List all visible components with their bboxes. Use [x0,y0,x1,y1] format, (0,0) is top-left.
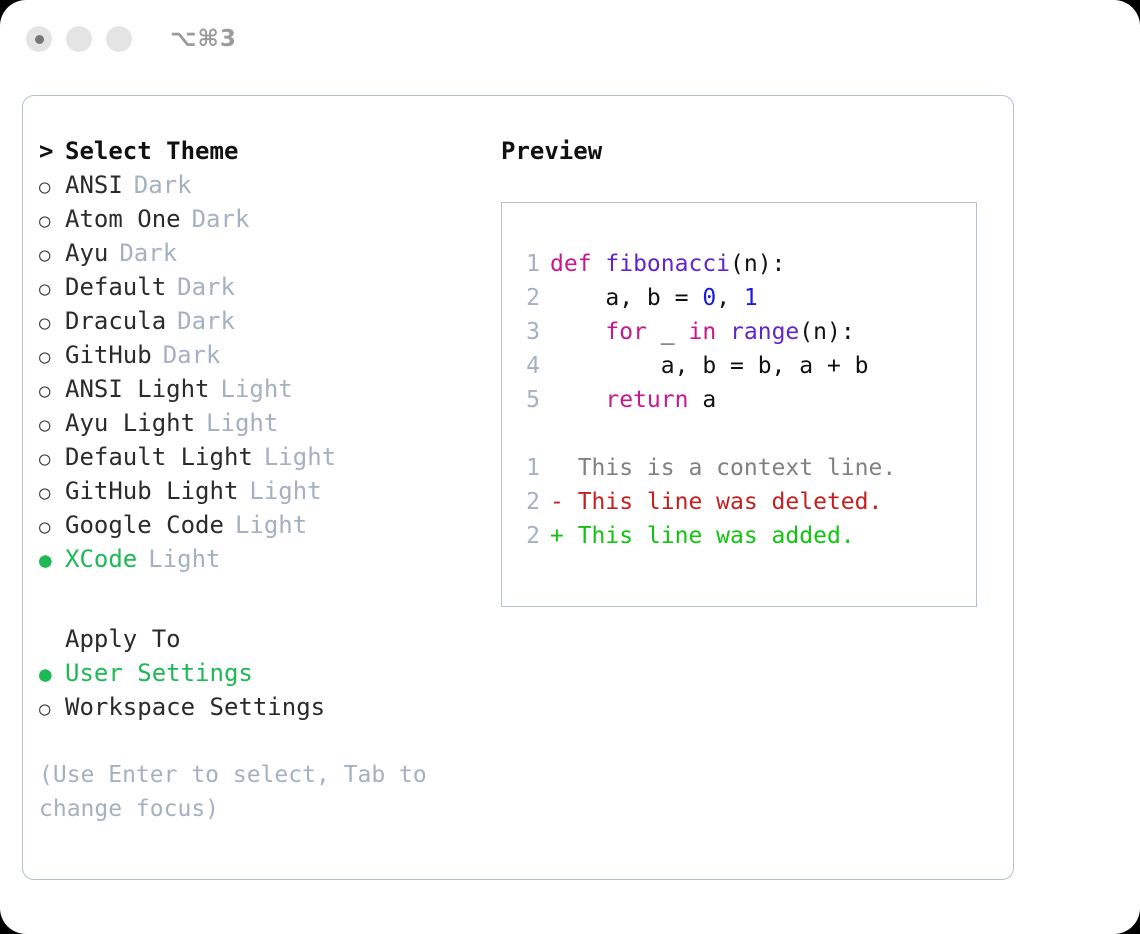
theme-option-google-code[interactable]: ○Google CodeLight [39,508,489,542]
select-theme-title: Select Theme [65,134,238,168]
preview-panel: Preview 1def fibonacci(n):2 a, b = 0, 13… [501,134,991,607]
theme-option-xcode[interactable]: ●XCodeLight [39,542,489,576]
apply-to-option-label: User Settings [65,656,253,690]
theme-variant-badge: Dark [192,202,250,236]
code-line: 5 return a [518,383,976,417]
theme-option-dracula[interactable]: ○DraculaDark [39,304,489,338]
radio-unselected-icon: ○ [39,272,65,306]
line-number: 1 [518,247,540,281]
theme-selector-dialog: > Select Theme ○ANSIDark○Atom OneDark○Ay… [22,95,1014,880]
theme-option-label: Ayu [65,236,108,270]
theme-option-label: Default [65,270,166,304]
code-diff-separator [518,417,976,451]
radio-unselected-icon: ○ [39,340,65,374]
theme-option-label: Google Code [65,508,224,542]
code-token-fn: range [730,319,799,345]
theme-variant-badge: Light [221,372,293,406]
window-dot-3-icon[interactable] [106,26,132,52]
radio-unselected-icon: ○ [39,510,65,544]
code-token-kw: for [605,319,647,345]
prompt-caret-icon: > [39,134,65,168]
radio-unselected-icon: ○ [39,692,65,726]
radio-unselected-icon: ○ [39,408,65,442]
theme-option-label: Ayu Light [65,406,195,440]
theme-option-label: Atom One [65,202,181,236]
apply-to-option-label: Workspace Settings [65,690,325,724]
theme-option-label: ANSI [65,168,123,202]
code-token-kw: in [688,319,716,345]
code-token-plain: (n): [799,319,854,345]
theme-option-ansi[interactable]: ○ANSIDark [39,168,489,202]
line-number: 2 [518,519,540,553]
code-line: 2 a, b = 0, 1 [518,281,976,315]
window-dot-active-icon[interactable] [26,26,52,52]
radio-unselected-icon: ○ [39,204,65,238]
diff-line-ctx: 1 This is a context line. [518,451,976,485]
diff-line-text: + This line was added. [550,523,855,549]
diff-line-text: This is a context line. [550,455,896,481]
radio-unselected-icon: ○ [39,170,65,204]
theme-variant-badge: Dark [163,338,221,372]
code-token-plain: a [688,387,716,413]
theme-option-label: XCode [65,542,137,576]
theme-option-github-light[interactable]: ○GitHub LightLight [39,474,489,508]
line-number: 2 [518,281,540,315]
preview-code-box: 1def fibonacci(n):2 a, b = 0, 13 for _ i… [501,202,977,607]
code-token-plain: (n): [730,251,785,277]
apply-to-option-workspace-settings[interactable]: ○Workspace Settings [39,690,489,724]
theme-variant-badge: Dark [177,304,235,338]
code-token-plain: , [716,285,744,311]
code-line: 3 for _ in range(n): [518,315,976,349]
apply-to-option-user-settings[interactable]: ●User Settings [39,656,489,690]
theme-option-github[interactable]: ○GitHubDark [39,338,489,372]
theme-option-label: Default Light [65,440,253,474]
radio-unselected-icon: ○ [39,476,65,510]
code-token-plain: a, b = b, a + b [550,353,869,379]
code-sample: 1def fibonacci(n):2 a, b = 0, 13 for _ i… [518,247,976,417]
preview-title: Preview [501,134,991,168]
title-bar: ⌥⌘3 [0,0,1140,78]
code-token-plain: _ [647,319,689,345]
theme-option-default[interactable]: ○DefaultDark [39,270,489,304]
code-token-plain [550,387,605,413]
line-number: 5 [518,383,540,417]
diff-line-del: 2- This line was deleted. [518,485,976,519]
code-token-num: 0 [702,285,716,311]
radio-selected-icon: ● [39,657,65,691]
radio-unselected-icon: ○ [39,374,65,408]
theme-variant-badge: Dark [134,168,192,202]
theme-variant-badge: Light [206,406,278,440]
radio-unselected-icon: ○ [39,306,65,340]
radio-unselected-icon: ○ [39,442,65,476]
code-token-plain [550,319,605,345]
keyboard-shortcut-label: ⌥⌘3 [170,26,237,52]
app-window: ⌥⌘3 > Select Theme ○ANSIDark○Atom OneDar… [0,0,1140,934]
theme-option-ansi-light[interactable]: ○ANSI LightLight [39,372,489,406]
line-number: 2 [518,485,540,519]
radio-unselected-icon: ○ [39,238,65,272]
apply-to-header: ○ Apply To [39,622,489,656]
diff-line-add: 2+ This line was added. [518,519,976,553]
theme-option-label: Dracula [65,304,166,338]
theme-option-ayu-light[interactable]: ○Ayu LightLight [39,406,489,440]
theme-option-label: GitHub [65,338,152,372]
apply-to-marker-spacer: ○ [39,624,65,658]
apply-to-title: Apply To [65,622,181,656]
theme-variant-badge: Dark [119,236,177,270]
theme-list-panel: > Select Theme ○ANSIDark○Atom OneDark○Ay… [39,134,489,826]
window-controls [26,26,132,52]
theme-variant-badge: Light [249,474,321,508]
code-token-plain [716,319,730,345]
theme-variant-badge: Light [235,508,307,542]
theme-option-label: GitHub Light [65,474,238,508]
theme-variant-badge: Dark [177,270,235,304]
code-token-plain: a, b = [550,285,702,311]
theme-options-list: ○ANSIDark○Atom OneDark○AyuDark○DefaultDa… [39,168,489,576]
theme-option-label: ANSI Light [65,372,210,406]
diff-line-text: - This line was deleted. [550,489,882,515]
code-token-kw: def [550,251,605,277]
code-line: 1def fibonacci(n): [518,247,976,281]
code-token-kw: return [605,387,688,413]
line-number: 1 [518,451,540,485]
theme-variant-badge: Light [264,440,336,474]
theme-option-ayu[interactable]: ○AyuDark [39,236,489,270]
theme-variant-badge: Light [148,542,220,576]
line-number: 4 [518,349,540,383]
theme-option-default-light[interactable]: ○Default LightLight [39,440,489,474]
diff-sample: 1 This is a context line.2- This line wa… [518,451,976,553]
window-dot-inner [35,35,44,44]
theme-option-atom-one[interactable]: ○Atom OneDark [39,202,489,236]
code-token-num: 1 [744,285,758,311]
keyboard-hint-text: (Use Enter to select, Tab to change focu… [39,758,451,826]
apply-to-options-list: ●User Settings○Workspace Settings [39,656,489,724]
code-token-fn: fibonacci [605,251,730,277]
line-number: 3 [518,315,540,349]
select-theme-header: > Select Theme [39,134,489,168]
radio-selected-icon: ● [39,543,65,577]
window-dot-2-icon[interactable] [66,26,92,52]
code-line: 4 a, b = b, a + b [518,349,976,383]
